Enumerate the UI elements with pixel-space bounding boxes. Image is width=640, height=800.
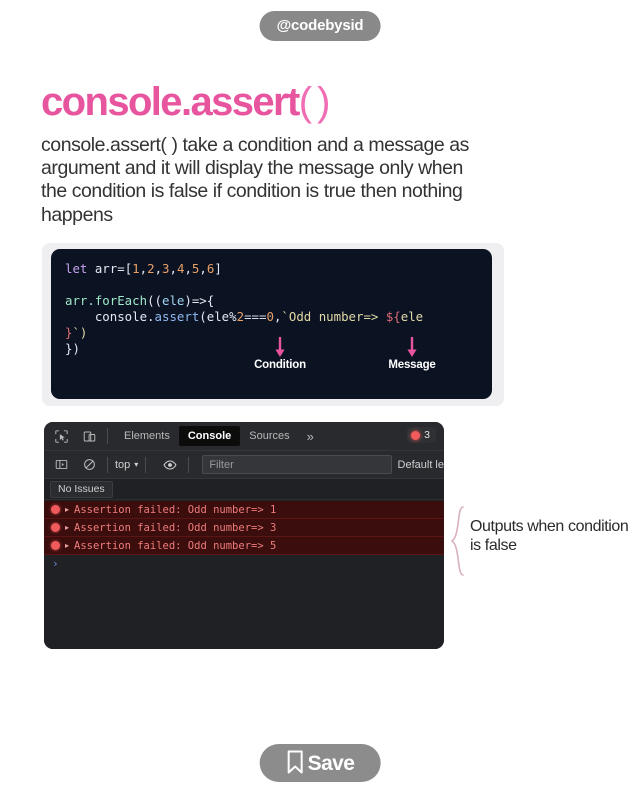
log-level-selector[interactable]: Default le [398,459,444,471]
code-token: arr.forEach [65,293,147,308]
code-token: (ele% [199,309,236,324]
code-token: 0 [266,309,273,324]
prompt-chevron-icon: › [52,557,59,570]
down-arrow-icon [405,337,419,357]
save-button[interactable]: Save [260,744,381,782]
chevron-down-icon: ▾ [134,460,138,469]
code-token: , [155,261,162,276]
side-note-text: Outputs when condition is false [470,518,630,555]
curly-brace-icon [450,506,466,576]
description-text: console.assert( ) take a condition and a… [41,134,481,227]
devtools-tabbar: Elements Console Sources » 3 [44,422,444,451]
error-dot-icon [51,505,60,514]
error-dot-icon [411,431,420,440]
filterbar-divider-1 [107,457,108,473]
annotation-message: Message [372,337,452,371]
page-title-main: console.assert [41,80,299,124]
code-token: `) [72,325,87,340]
page-title-parens: ( ) [299,80,328,124]
code-token: , [140,261,147,276]
code-token: ] [214,261,221,276]
clear-console-icon[interactable] [78,455,100,475]
annotation-message-label: Message [388,359,435,371]
code-token: ele [162,293,184,308]
error-dot-icon [51,541,60,550]
code-token: arr=[ [87,261,132,276]
tab-console[interactable]: Console [179,426,240,446]
page-title: console.assert( ) [41,82,328,122]
tab-sources[interactable]: Sources [240,426,298,446]
error-count-badge[interactable]: 3 [407,427,436,443]
code-token: 1 [132,261,139,276]
devtools-filterbar: top ▾ Filter Default le [44,451,444,479]
inspect-element-icon[interactable] [50,426,72,446]
code-token: 3 [162,261,169,276]
console-prompt[interactable]: › [44,555,444,572]
filter-placeholder: Filter [209,459,233,471]
no-issues-chip[interactable]: No Issues [50,481,113,498]
filterbar-divider-2 [145,457,146,473]
expand-triangle-icon[interactable]: ▸ [65,523,69,532]
code-token: 2 [147,261,154,276]
annotation-condition: Condition [240,337,320,371]
bookmark-icon [286,750,305,777]
code-token: ele [401,309,423,324]
context-selector[interactable]: top ▾ [115,459,138,471]
console-sidebar-icon[interactable] [50,455,72,475]
console-error-message: Assertion failed: Odd number=> 5 [74,540,276,552]
console-error-message: Assertion failed: Odd number=> 1 [74,504,276,516]
code-token: , [184,261,191,276]
code-token: === [244,309,266,324]
code-token: ${ [386,309,401,324]
code-token: assert [155,309,200,324]
console-error-row[interactable]: ▸Assertion failed: Odd number=> 5 [44,537,444,555]
more-tabs-icon[interactable]: » [299,429,322,444]
code-token: , [199,261,206,276]
code-token: , [170,261,177,276]
console-error-row[interactable]: ▸Assertion failed: Odd number=> 3 [44,519,444,537]
annotation-condition-label: Condition [254,359,306,371]
console-error-message: Assertion failed: Odd number=> 3 [74,522,276,534]
filterbar-divider-3 [188,457,189,473]
error-count-value: 3 [424,429,430,441]
code-card: let arr=[1,2,3,4,5,6] arr.forEach((ele)=… [51,249,492,399]
code-token: console. [65,309,155,324]
code-token: }) [65,341,80,356]
expand-triangle-icon[interactable]: ▸ [65,505,69,514]
expand-triangle-icon[interactable]: ▸ [65,541,69,550]
context-selector-value: top [115,459,130,471]
save-button-label: Save [308,753,355,774]
error-dot-icon [51,523,60,532]
filter-input[interactable]: Filter [202,455,391,474]
device-toolbar-icon[interactable] [78,426,100,446]
toolbar-divider [107,428,108,444]
code-token: 2 [237,309,244,324]
down-arrow-icon [273,337,287,357]
code-token: `Odd number=> [281,309,385,324]
handle-badge: @codebysid [260,11,381,41]
code-token: let [65,261,87,276]
live-expression-eye-icon[interactable] [159,455,181,475]
issues-bar: No Issues [44,479,444,500]
devtools-panel: Elements Console Sources » 3 top ▾ [44,422,444,649]
console-output: ▸Assertion failed: Odd number=> 1▸Assert… [44,500,444,649]
tab-elements[interactable]: Elements [115,426,179,446]
code-token: )=>{ [184,293,214,308]
console-error-row[interactable]: ▸Assertion failed: Odd number=> 1 [44,501,444,519]
code-token: (( [147,293,162,308]
